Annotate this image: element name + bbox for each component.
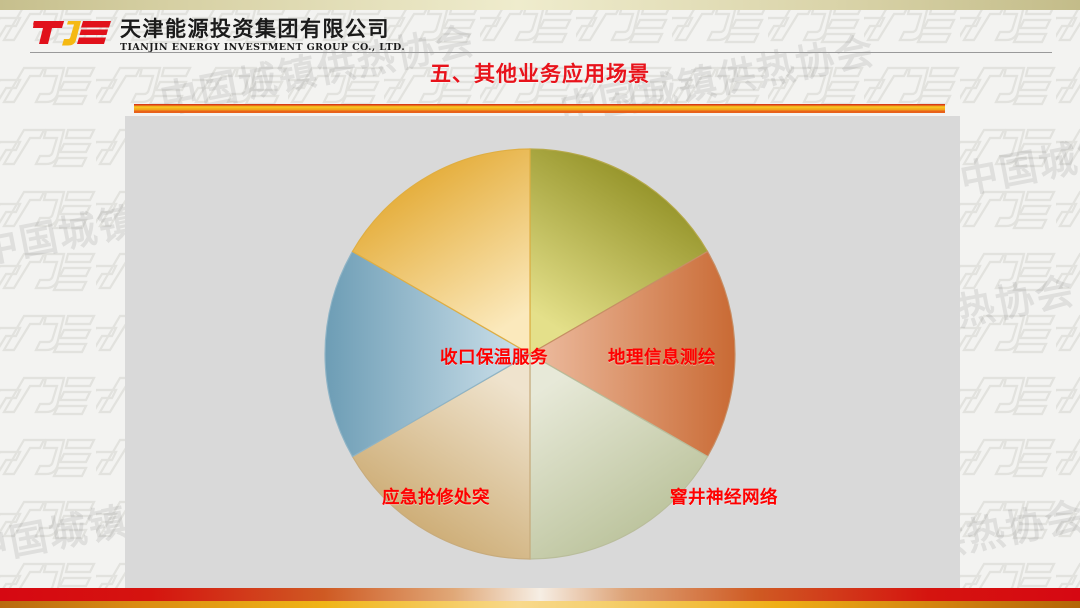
tje-logo-icon <box>33 18 111 48</box>
pie-slice-label: 地理信息测绘 <box>608 344 716 369</box>
top-gold-band <box>0 0 1080 10</box>
company-logo: 天津能源投资集团有限公司 TIANJIN ENERGY INVESTMENT G… <box>33 18 405 53</box>
bottom-gold-band <box>0 601 1080 608</box>
page-title: 五、其他业务应用场景 <box>0 58 1080 88</box>
pie-slice-label: 收口保温服务 <box>440 344 548 369</box>
company-name-cn: 天津能源投资集团有限公司 <box>120 19 405 40</box>
header-divider <box>30 52 1052 53</box>
pie-slice-label: 窨井神经网络 <box>670 484 778 509</box>
content-top-stripe <box>134 104 945 113</box>
pie-slice-label: 应急抢修处突 <box>382 484 490 509</box>
logo-text-block: 天津能源投资集团有限公司 TIANJIN ENERGY INVESTMENT G… <box>120 18 405 53</box>
bottom-red-band <box>0 588 1080 601</box>
slide: 中国城镇供热协会 中国城镇供热协会 中国城镇供热协会 中国城镇供热协会 中国城镇… <box>0 0 1080 608</box>
slide-header: 天津能源投资集团有限公司 TIANJIN ENERGY INVESTMENT G… <box>0 10 1080 54</box>
pie-chart: 地理信息测绘窨井神经网络低空智能巡检漏点快速定位应急抢修处突收口保温服务 <box>320 144 740 564</box>
